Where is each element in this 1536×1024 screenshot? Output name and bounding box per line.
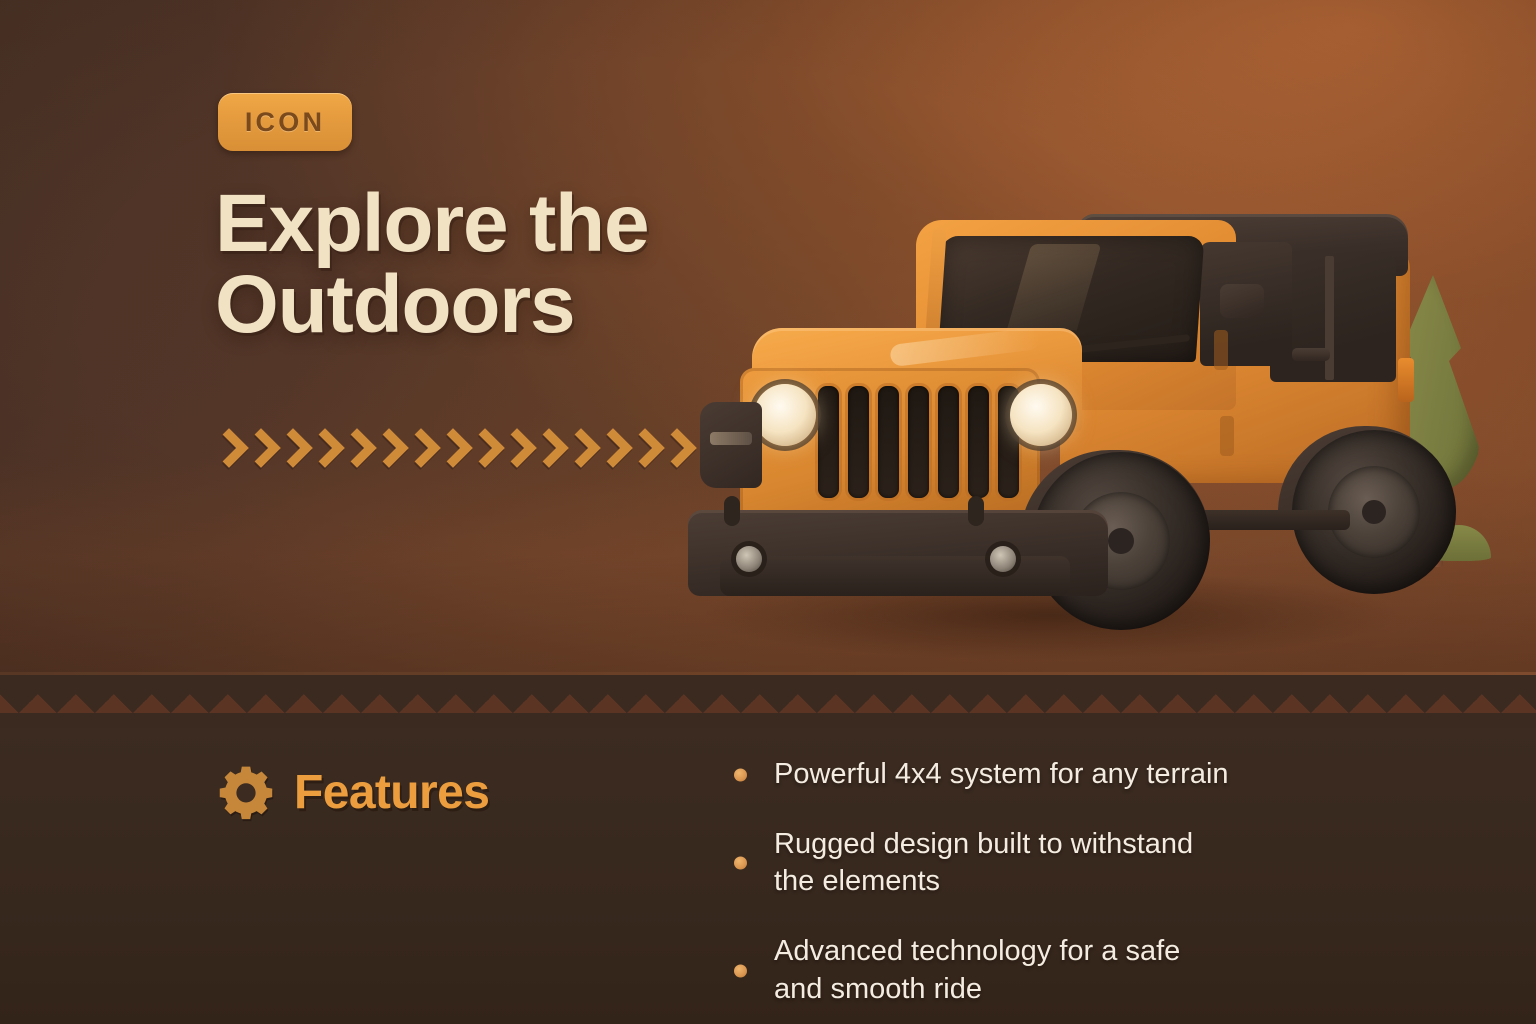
chevron-right-icon xyxy=(341,425,373,471)
grille-slot xyxy=(878,386,899,498)
icon-badge-label: ICON xyxy=(245,107,325,138)
list-item: Rugged design built to withstand the ele… xyxy=(728,826,1468,901)
chevron-right-icon xyxy=(469,425,501,471)
features-title: Features xyxy=(294,765,489,820)
rear-hub xyxy=(1362,500,1386,524)
grille-slot xyxy=(848,386,869,498)
vehicle-bumper-lip xyxy=(720,556,1070,596)
headlight-right xyxy=(1010,384,1072,446)
list-item-label: Powerful 4x4 system for any terrain xyxy=(774,758,1229,790)
gear-icon xyxy=(218,764,274,820)
bullet-dot-icon xyxy=(734,964,747,977)
list-item: Powerful 4x4 system for any terrain xyxy=(728,756,1468,794)
grille-slot xyxy=(968,386,989,498)
chevron-right-icon xyxy=(309,425,341,471)
features-heading: Features xyxy=(218,764,489,820)
list-item-label: Advanced technology for a safe and smoot… xyxy=(774,935,1180,1005)
bullet-dot-icon xyxy=(734,857,747,870)
list-item: Advanced technology for a safe and smoot… xyxy=(728,933,1468,1008)
slide-root: ICON Explore the Outdoors xyxy=(0,0,1536,1024)
chevron-right-icon xyxy=(373,425,405,471)
chevron-right-icon xyxy=(501,425,533,471)
bullet-dot-icon xyxy=(734,768,747,781)
list-item-label: Rugged design built to withstand the ele… xyxy=(774,828,1193,898)
vehicle-rear-window-split xyxy=(1325,256,1334,380)
tow-hook-right xyxy=(968,496,984,526)
vehicle-side-marker xyxy=(710,432,752,445)
chevron-right-icon xyxy=(437,425,469,471)
grille-slot xyxy=(908,386,929,498)
grille-slot xyxy=(938,386,959,498)
fog-light-left xyxy=(736,546,762,572)
diamond-divider xyxy=(0,672,1536,728)
features-list: Powerful 4x4 system for any terrain Rugg… xyxy=(728,756,1468,1008)
hero-illustration xyxy=(660,170,1490,670)
chevron-right-icon xyxy=(213,425,245,471)
vehicle-door-hinge-top xyxy=(1214,330,1228,370)
chevron-right-icon xyxy=(597,425,629,471)
chevron-right-icon xyxy=(405,425,437,471)
fog-light-right xyxy=(990,546,1016,572)
headlight-left xyxy=(754,384,816,446)
vehicle-door-handle xyxy=(1292,348,1330,361)
features-section: Features Powerful 4x4 system for any ter… xyxy=(0,728,1536,1024)
vehicle-taillight xyxy=(1398,358,1414,402)
offroad-vehicle xyxy=(680,180,1420,650)
chevron-right-icon xyxy=(533,425,565,471)
chevron-right-icon xyxy=(277,425,309,471)
divider-diamond-pattern xyxy=(0,675,1536,728)
chevron-right-icon xyxy=(629,425,661,471)
hero-section: ICON Explore the Outdoors xyxy=(0,0,1536,672)
chevron-divider xyxy=(213,425,693,471)
vehicle-front-fender xyxy=(700,402,762,488)
front-hub xyxy=(1108,528,1134,554)
grille-slot xyxy=(818,386,839,498)
vehicle-side-mirror xyxy=(1220,284,1264,318)
chevron-right-icon xyxy=(245,425,277,471)
tow-hook-left xyxy=(724,496,740,526)
icon-badge[interactable]: ICON xyxy=(218,93,352,151)
vehicle-door-hinge-bottom xyxy=(1220,416,1234,456)
chevron-right-icon xyxy=(565,425,597,471)
